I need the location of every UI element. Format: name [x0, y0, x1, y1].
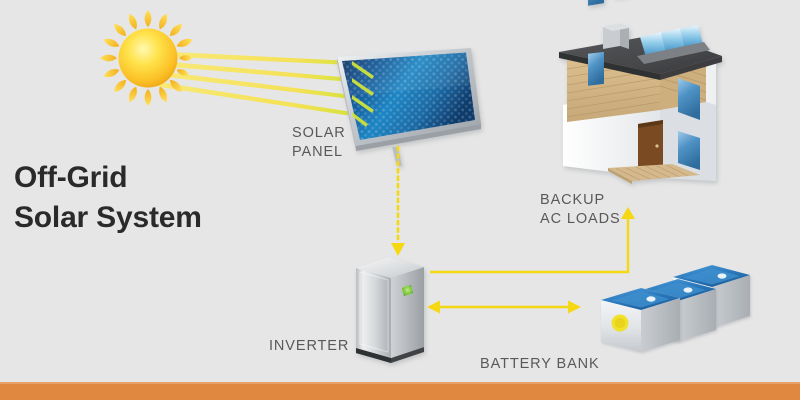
sun-beams [159, 52, 352, 116]
house [559, 0, 722, 184]
label-battery-bank: BATTERY BANK [480, 355, 600, 374]
page-title: Off-Grid Solar System [14, 158, 254, 238]
battery-bank [601, 265, 750, 352]
flow-panel-to-inverter [391, 147, 405, 256]
diagram-canvas: Off-Grid Solar System SOLAR PANEL INVERT… [0, 0, 800, 400]
inverter [356, 257, 424, 363]
label-solar-panel: SOLAR PANEL [292, 124, 346, 161]
flow-inverter-to-battery [427, 301, 581, 314]
battery-front [601, 288, 680, 352]
label-inverter: INVERTER [269, 337, 349, 356]
footer-band-highlight [0, 382, 800, 384]
flow-lines [391, 147, 635, 314]
label-backup-ac-loads: BACKUP AC LOADS [540, 191, 621, 228]
footer-band [0, 382, 800, 400]
sun-icon [100, 10, 194, 106]
